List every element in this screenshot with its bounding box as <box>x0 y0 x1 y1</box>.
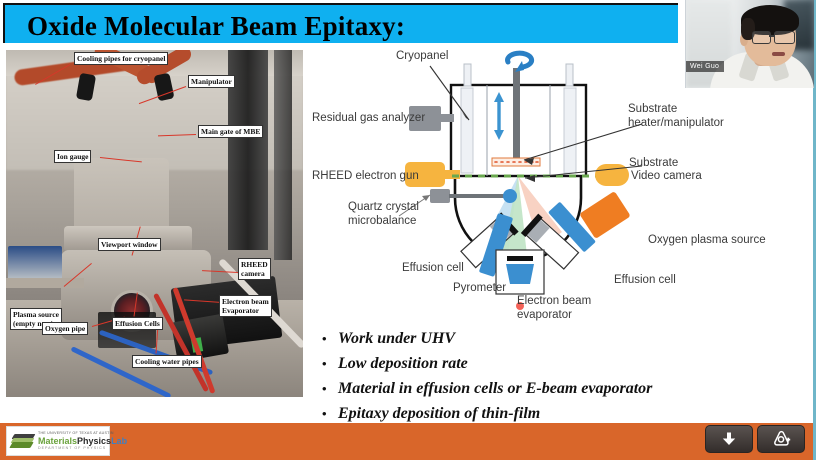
photo-label: Main gate of MBE <box>198 125 263 138</box>
webcam-glasses-right-lens <box>774 31 795 44</box>
photo-label: Viewport window <box>98 238 161 251</box>
bullet-text: Work under UHV <box>338 330 455 348</box>
diagram-label-pyrometer: Pyrometer <box>453 282 506 296</box>
photo-dark-column-2 <box>274 50 292 260</box>
diagram-label-quartz-crystal-microbalance: Quartz crystal microbalance <box>348 201 419 228</box>
download-button[interactable] <box>705 425 753 453</box>
list-item: • Low deposition rate <box>322 355 792 373</box>
photo-label: Manipulator <box>188 75 235 88</box>
bullet-text: Epitaxy deposition of thin-film <box>338 405 540 423</box>
photo-label: Effusion Cells <box>112 317 163 330</box>
mbe-lab-photo: Cooling pipes for cryopanel Manipulator … <box>6 50 303 397</box>
diagram-label-effusion-cell-right: Effusion cell <box>614 274 676 288</box>
university-lab-logo: THE UNIVERSITY OF TEXAS AT AUSTIN Materi… <box>6 426 110 456</box>
slide-title-banner: Oxide Molecular Beam Epitaxy: <box>3 3 678 43</box>
bullet-list: • Work under UHV • Low deposition rate •… <box>322 330 792 430</box>
photo-label: Electron beam Evaporator <box>219 295 272 317</box>
annotate-button[interactable] <box>757 425 805 453</box>
logo-brand-materials: Materials <box>38 436 77 446</box>
photo-label: Oxygen pipe <box>42 322 88 335</box>
photo-laptop <box>8 246 62 280</box>
bullet-marker: • <box>322 405 338 423</box>
photo-label: Cooling water pipes <box>132 355 202 368</box>
logo-department-line: DEPARTMENT OF PHYSICS <box>38 447 127 451</box>
diagram-label-video-camera: Video camera <box>631 170 702 184</box>
diagram-label-electron-beam-evaporator: Electron beam evaporator <box>517 295 591 322</box>
diagram-label-substrate-heater: Substrate heater/manipulator <box>628 103 724 130</box>
diagram-label-substrate: Substrate <box>629 157 678 171</box>
bullet-text: Low deposition rate <box>338 355 468 373</box>
photo-label: RHEED camera <box>238 258 271 280</box>
layered-film-icon <box>9 430 35 452</box>
diagram-label-residual-gas-analyzer: Residual gas analyzer <box>312 112 425 126</box>
photo-label: Ion gauge <box>54 150 91 163</box>
bullet-marker: • <box>322 330 338 348</box>
diagram-label-rheed-electron-gun: RHEED electron gun <box>312 170 419 184</box>
photo-label: Cooling pipes for cryopanel <box>74 52 168 65</box>
webcam-glasses-bridge <box>769 35 774 37</box>
page-title: Oxide Molecular Beam Epitaxy: <box>27 11 405 42</box>
list-item: • Work under UHV <box>322 330 792 348</box>
download-arrow-icon <box>721 431 737 447</box>
bullet-marker: • <box>322 380 338 398</box>
bullet-marker: • <box>322 355 338 373</box>
bullet-text: Material in effusion cells or E-beam eva… <box>338 380 652 398</box>
list-item: • Material in effusion cells or E-beam e… <box>322 380 792 398</box>
footer-bar: THE UNIVERSITY OF TEXAS AT AUSTIN Materi… <box>0 423 813 460</box>
slide-viewer: Oxide Molecular Beam Epitaxy: Wei Guo <box>0 0 816 460</box>
diagram-label-effusion-cell-left: Effusion cell <box>402 262 464 276</box>
add-annotation-icon <box>771 430 791 448</box>
logo-brand-line: MaterialsPhysicsLab <box>38 437 127 446</box>
list-item: • Epitaxy deposition of thin-film <box>322 405 792 423</box>
logo-brand-lab: Lab <box>111 436 127 446</box>
diagram-label-oxygen-plasma-source: Oxygen plasma source <box>648 234 766 248</box>
logo-brand-physics: Physics <box>77 436 111 446</box>
mbe-chamber-schematic: Cryopanel Residual gas analyzer RHEED el… <box>312 48 810 323</box>
webcam-glasses-left-lens <box>752 31 771 44</box>
diagram-label-cryopanel: Cryopanel <box>396 50 448 64</box>
schematic-svg <box>312 48 810 323</box>
